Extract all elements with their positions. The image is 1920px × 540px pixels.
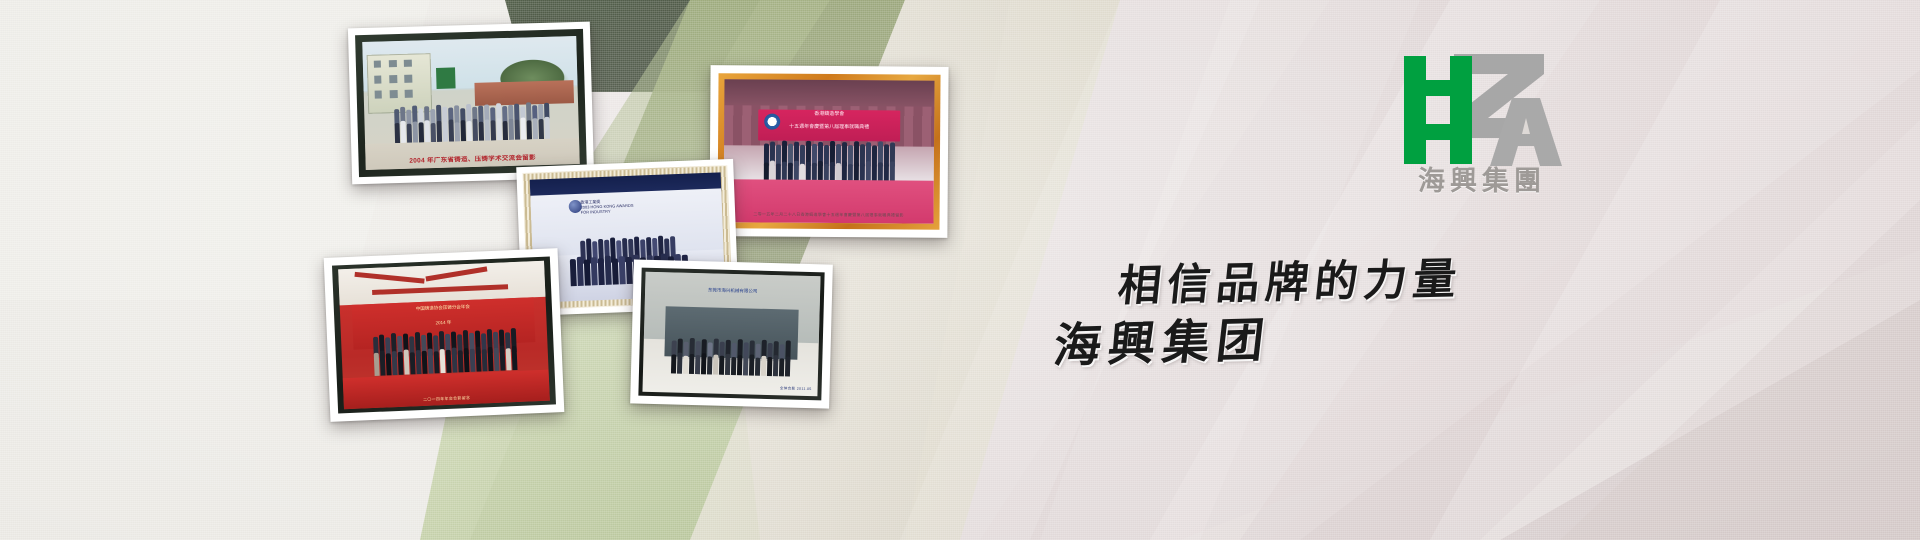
hza-logo-mark [1392, 48, 1572, 168]
photo-staff-front [643, 351, 819, 378]
logo-letter-h-bottom [1404, 102, 1472, 164]
background-graphics [0, 0, 1920, 540]
photo-frame-group-photo-building-entrance[interactable]: 东莞市海兴机械有限公司 [630, 259, 833, 408]
photo-image: 中国铸造协会压铸分会年会 2014 年 [338, 261, 550, 410]
photo-caption: 二零一五年二月二十八日香港鑄造學會十五週年會慶暨第八屆理事就職典禮留影 [724, 210, 934, 219]
photo-image: 东莞市海兴机械有限公司 [642, 272, 820, 397]
company-logo[interactable]: 海興集團 [1392, 48, 1572, 208]
photo-frame-2004-guangdong-foundry-conference[interactable]: 2004 年广东省铸造、压铸学术交流会留影 [348, 22, 594, 185]
slogan-line-2: 海興集团 [1051, 301, 1276, 376]
photo-frame-2014-annual-conference[interactable]: 中国铸造协会压铸分会年会 2014 年 [324, 248, 565, 422]
company-hero-banner: 2004 年广东省铸造、压铸学术交流会留影 香港鑄造學會 十五週年會慶暨第八屆理… [0, 0, 1920, 540]
backdrop-title: 中国铸造协会压铸分会年会 [352, 301, 533, 315]
photo-banner-line2: 十五週年會慶暨第八屆理事就職典禮 [724, 124, 934, 132]
logo-company-name-zh: 海興集團 [1392, 166, 1572, 196]
photo-image: 香港鑄造學會 十五週年會慶暨第八屆理事就職典禮 [724, 79, 935, 223]
photo-flag [436, 68, 456, 89]
brand-slogan: 相信品牌的力量 海興集团 [1055, 248, 1475, 388]
photo-image: 2004 年广东省铸造、压铸学术交流会留影 [362, 36, 579, 170]
photo-banner-line1: 香港鑄造學會 [724, 111, 934, 119]
photo-frame-hong-kong-association-ceremony[interactable]: 香港鑄造學會 十五週年會慶暨第八屆理事就職典禮 [709, 65, 948, 238]
photo-caption: 全体合影 2011.05 [643, 381, 818, 394]
